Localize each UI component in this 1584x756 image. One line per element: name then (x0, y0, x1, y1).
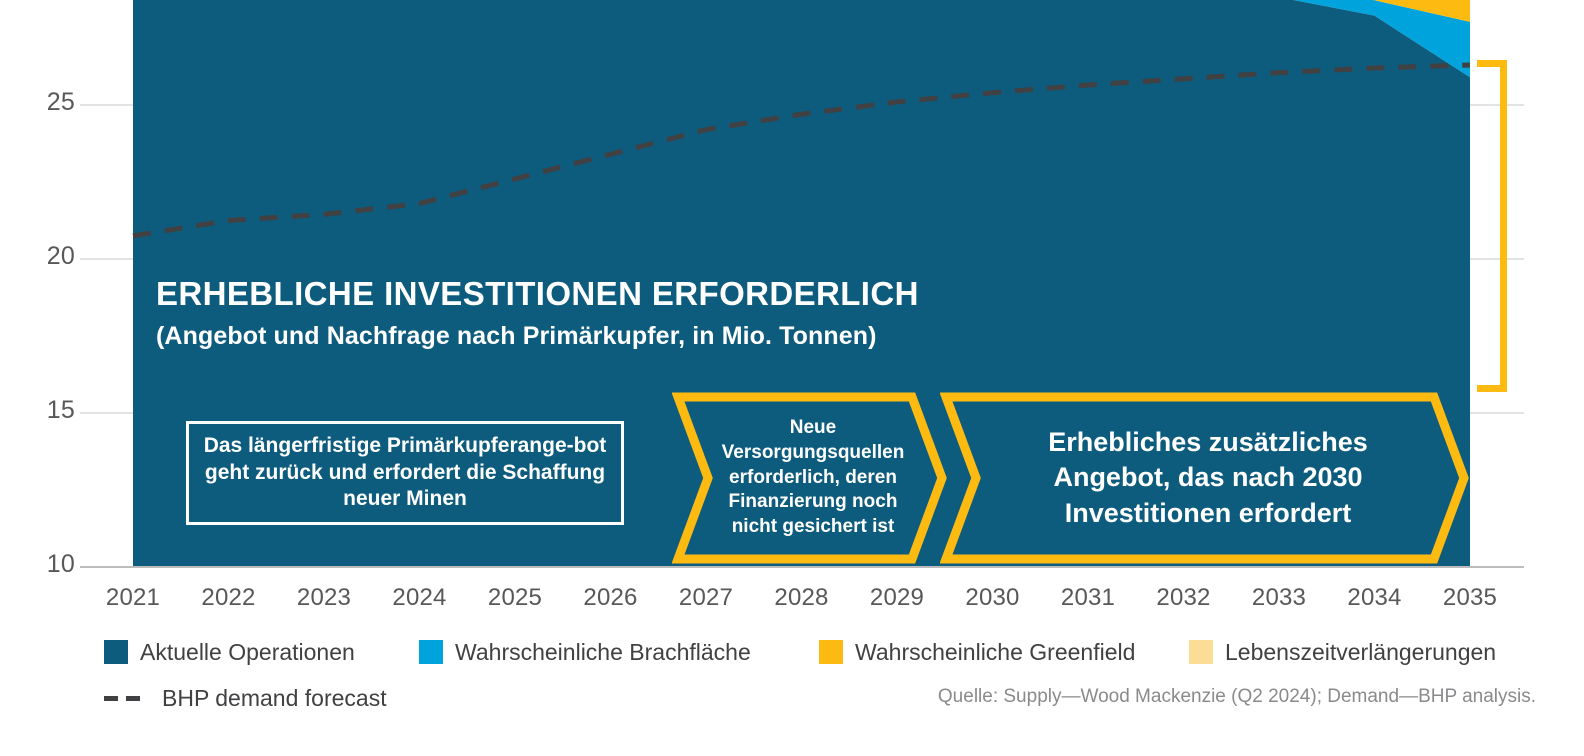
x-axis-tick-label: 2022 (174, 584, 284, 612)
callout-supply-decline: Das längerfristige Primärkupferange-bot … (186, 421, 624, 525)
legend-item-4[interactable]: Lebenszeitverlängerungen (1189, 637, 1496, 667)
legend-swatch-icon (819, 640, 843, 664)
legend-label-1: Aktuelle Operationen (140, 639, 355, 666)
legend-label-3: Wahrscheinliche Greenfield (855, 639, 1135, 666)
x-axis-tick-label: 2035 (1415, 584, 1525, 612)
legend-label-4: Lebenszeitverlängerungen (1225, 639, 1496, 666)
callout-post-2030-investment: Erhebliches zusätzliches Angebot, das na… (940, 391, 1470, 565)
x-axis-tick-label: 2028 (747, 584, 857, 612)
chart-canvas: 10152025 2021202220232024202520262027202… (0, 0, 1584, 756)
dashed-line-icon (104, 683, 150, 713)
x-axis-tick-label: 2026 (556, 584, 666, 612)
right-axis-label: Millionen Tonnen pro Jahr (1527, 0, 1584, 61)
page-subtitle: (Angebot und Nachfrage nach Primärkupfer… (156, 322, 877, 351)
legend-item-1[interactable]: Aktuelle Operationen (104, 637, 355, 667)
y-axis-tick-label: 20 (15, 242, 75, 271)
legend-item-2[interactable]: Wahrscheinliche Brachfläche (419, 637, 751, 667)
x-axis-tick-label: 2021 (78, 584, 188, 612)
x-axis-tick-label: 2023 (269, 584, 379, 612)
x-axis-tick-label: 2034 (1320, 584, 1430, 612)
legend-swatch-icon (419, 640, 443, 664)
legend: Aktuelle OperationenWahrscheinliche Brac… (104, 637, 1524, 667)
legend-swatch-icon (104, 640, 128, 664)
legend-label-2: Wahrscheinliche Brachfläche (455, 639, 751, 666)
callout-supply-decline-text: Das längerfristige Primärkupferange-bot … (199, 433, 611, 512)
legend-item-bhp-demand-forecast[interactable]: BHP demand forecast (104, 683, 387, 713)
legend-item-3[interactable]: Wahrscheinliche Greenfield (819, 637, 1135, 667)
page-title: ERHEBLICHE INVESTITIONEN ERFORDERLICH (156, 277, 919, 312)
x-axis-tick-label: 2025 (460, 584, 570, 612)
x-axis-tick-label: 2032 (1129, 584, 1239, 612)
source-note: Quelle: Supply—Wood Mackenzie (Q2 2024);… (938, 686, 1536, 708)
x-axis-tick-label: 2030 (938, 584, 1048, 612)
callout-post-2030-investment-text: Erhebliches zusätzliches Angebot, das na… (940, 391, 1470, 565)
x-axis-tick-label: 2024 (365, 584, 475, 612)
legend-swatch-icon (1189, 640, 1213, 664)
x-axis-tick-label: 2033 (1224, 584, 1334, 612)
y-axis-tick-label: 15 (15, 396, 75, 425)
x-axis-tick-label: 2031 (1033, 584, 1143, 612)
callout-new-supply-sources-text: Neue Versorgungsquellen erforderlich, de… (672, 391, 948, 565)
x-axis-tick-label: 2027 (651, 584, 761, 612)
y-axis-tick-label: 25 (15, 88, 75, 117)
legend-label-bhp-demand-forecast: BHP demand forecast (162, 685, 387, 712)
callout-new-supply-sources: Neue Versorgungsquellen erforderlich, de… (672, 391, 948, 565)
right-axis-bracket (1477, 60, 1507, 392)
x-axis-tick-label: 2029 (842, 584, 952, 612)
y-axis-tick-label: 10 (15, 550, 75, 579)
